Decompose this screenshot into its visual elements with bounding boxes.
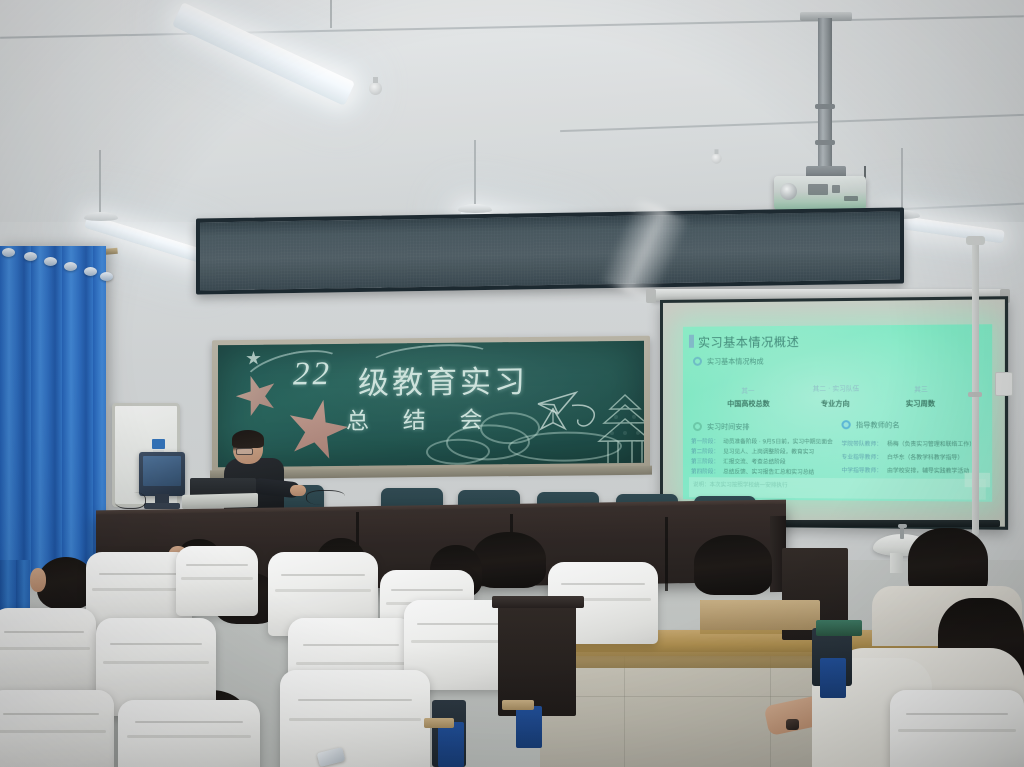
presenter-hair <box>232 430 264 448</box>
slide-list-text: 见习见人、上岗调整阶段，教育实习 <box>723 447 814 455</box>
presentation-slide: 实习基本情况概述 实习基本情况构成 其一 中国高校总数 其二 · 实习队伍 专业… <box>683 324 992 502</box>
seat-cover[interactable] <box>280 670 430 767</box>
slide-section-3: 指导教师的名 <box>856 420 900 430</box>
sink-pedestal <box>890 553 903 573</box>
slide-bullet-icon <box>693 422 702 431</box>
slide-col-header: 其一 <box>741 385 754 395</box>
light-pendant-wire <box>901 148 903 214</box>
monitor-screen <box>143 456 181 486</box>
monitor-base <box>144 503 180 509</box>
slide-list-label: 第二阶段： <box>691 447 719 455</box>
faucet-icon[interactable] <box>900 527 904 539</box>
slide-bullet-icon <box>693 357 702 366</box>
light-pendant-cap <box>84 212 118 221</box>
slide-list-text: 由学校安排，辅导实践教学活动 <box>887 466 969 475</box>
desk-monitor-panel <box>816 620 862 636</box>
seat-cover[interactable] <box>176 546 258 616</box>
slide-section-1: 实习基本情况构成 <box>707 356 764 366</box>
stage-step-surface <box>700 600 820 630</box>
slide-list-label: 学院带队教师： <box>841 439 882 447</box>
slide-col-header: 其三 <box>914 383 928 393</box>
slide-list-label: 第三阶段： <box>691 457 719 465</box>
pagoda-icon <box>596 393 644 466</box>
seat-cover[interactable] <box>890 690 1024 767</box>
slide-col-value: 中国高校总数 <box>727 399 770 409</box>
screen-housing-end <box>646 289 656 303</box>
seat-cover[interactable] <box>118 700 260 767</box>
glasses-icon <box>236 448 253 455</box>
chair-blue-back <box>438 722 464 767</box>
slide-list-text: 汇报交流、考查总结阶段 <box>723 457 785 465</box>
wristwatch <box>786 719 799 730</box>
desk-cable <box>306 490 345 505</box>
sprinkler-icon <box>369 82 382 95</box>
presenter-hand <box>290 485 306 496</box>
aisle-desk-top <box>492 596 584 608</box>
projection-screen: 实习基本情况概述 实习基本情况构成 其一 中国高校总数 其二 · 实习队伍 专业… <box>660 296 1008 530</box>
slide-col-header: 其二 · 实习队伍 <box>813 382 860 392</box>
projector-lens-icon <box>780 183 797 200</box>
blackboard-title-main: 级教育实习 <box>358 356 528 403</box>
slide-footer-note: 说明：本次实习按照学校统一安排执行 <box>693 480 788 489</box>
sprinkler-icon <box>711 153 721 163</box>
audience-head <box>472 532 546 588</box>
seat-cover[interactable] <box>0 608 96 696</box>
slide-title: 实习基本情况概述 <box>698 333 799 351</box>
slide-list-text: 动员准备阶段 · 9月5日前，实习中期见面会 <box>723 437 833 445</box>
seat-cover[interactable] <box>0 690 114 767</box>
classroom-photo-scene: 22 级教育实习 总 结 会 <box>0 0 1024 767</box>
wall-socket[interactable] <box>995 372 1013 396</box>
audience-head <box>30 568 46 592</box>
chair-armrest <box>502 700 534 710</box>
slide-list-text: 总结反馈、实习报告汇总和实习总结 <box>723 467 814 476</box>
blackboard-title-number: 22 <box>293 356 332 393</box>
aisle-desk <box>498 600 576 716</box>
light-pendant-cap <box>458 204 492 213</box>
window-curtain[interactable] <box>0 246 106 582</box>
podium-seam <box>665 517 668 591</box>
slide-list-label: 第四阶段： <box>691 467 719 475</box>
chair-blue-back <box>820 658 846 698</box>
projector-mount-pole <box>818 18 832 170</box>
projector-pole-ring <box>815 104 835 109</box>
slide-bullet-icon <box>841 420 850 429</box>
slide-title-accent <box>689 335 694 348</box>
slide-col-value: 专业方向 <box>821 399 850 409</box>
wall-conduit <box>972 236 979 536</box>
light-pendant-wire <box>330 0 332 28</box>
presenter-monitor[interactable] <box>139 452 185 496</box>
light-pendant-wire <box>99 150 101 216</box>
wall-conduit-clip <box>968 392 982 397</box>
paper-plane-icon <box>538 408 568 432</box>
projector-pole-ring <box>815 140 835 145</box>
wall-conduit-bracket <box>966 236 985 245</box>
chair-armrest <box>424 718 454 728</box>
slide-list-label: 专业指导教师： <box>841 453 882 461</box>
slide-list-text: 白华东（各教学科教学指导） <box>887 453 963 462</box>
blackboard-frame: 22 级教育实习 总 结 会 <box>212 336 650 474</box>
slide-list-label: 中学指导教师： <box>841 466 882 474</box>
slide-list-label: 第一阶段： <box>691 437 719 445</box>
chair-blue-back <box>516 706 542 748</box>
whiteboard-note <box>152 439 165 449</box>
slide-col-value: 实习周数 <box>906 399 935 409</box>
audience-head <box>694 535 772 595</box>
desk-cable <box>115 492 146 509</box>
blackboard: 22 级教育实习 总 结 会 <box>218 341 644 467</box>
wall-display-panel <box>196 207 904 294</box>
keyboard[interactable] <box>182 493 258 509</box>
light-pendant-wire <box>474 140 476 208</box>
slide-list-text: 杨梅（负责实习管理和联络工作） <box>887 440 975 448</box>
slide-section-2: 实习时间安排 <box>707 422 749 432</box>
